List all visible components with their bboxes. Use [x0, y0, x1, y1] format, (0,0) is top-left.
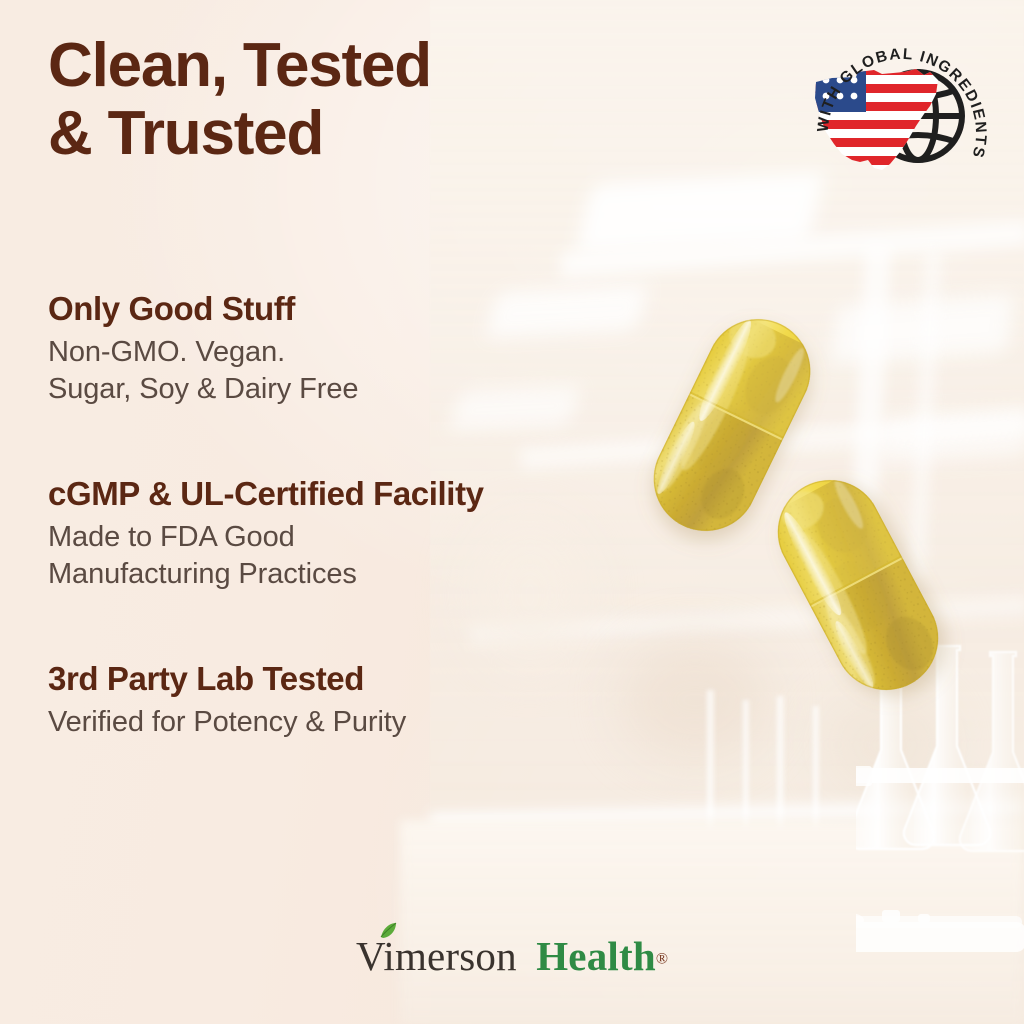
page-title: Clean, Tested & Trusted [48, 32, 668, 168]
benefit-title: Only Good Stuff [48, 290, 668, 328]
global-ingredients-badge: WITH GLOBAL INGREDIENTS [812, 28, 990, 208]
capsule-lower [759, 461, 958, 709]
benefit-line: Manufacturing Practices [48, 556, 668, 593]
registered-trademark-icon: ® [656, 951, 668, 968]
benefit-block-only-good-stuff: Only Good Stuff Non-GMO. Vegan. Sugar, S… [48, 290, 668, 408]
logo-word-vimerson: Vimerson [356, 933, 527, 979]
leaf-icon [378, 921, 398, 941]
headline-line-1: Clean, Tested [48, 32, 668, 100]
benefit-line: Made to FDA Good [48, 519, 668, 556]
benefit-block-cgmp-facility: cGMP & UL-Certified Facility Made to FDA… [48, 475, 668, 593]
benefit-block-lab-tested: 3rd Party Lab Tested Verified for Potenc… [48, 660, 668, 741]
logo-word-health: Health [536, 933, 656, 979]
benefit-line: Sugar, Soy & Dairy Free [48, 371, 668, 408]
benefit-title: 3rd Party Lab Tested [48, 660, 668, 698]
benefit-title: cGMP & UL-Certified Facility [48, 475, 668, 513]
benefit-line: Verified for Potency & Purity [48, 704, 668, 741]
brand-logo: Vimerson Health® [0, 932, 1024, 980]
benefit-line: Non-GMO. Vegan. [48, 334, 668, 371]
product-marketing-image: Clean, Tested & Trusted Only Good Stuff … [0, 0, 1024, 1024]
headline-line-2: & Trusted [48, 100, 668, 168]
